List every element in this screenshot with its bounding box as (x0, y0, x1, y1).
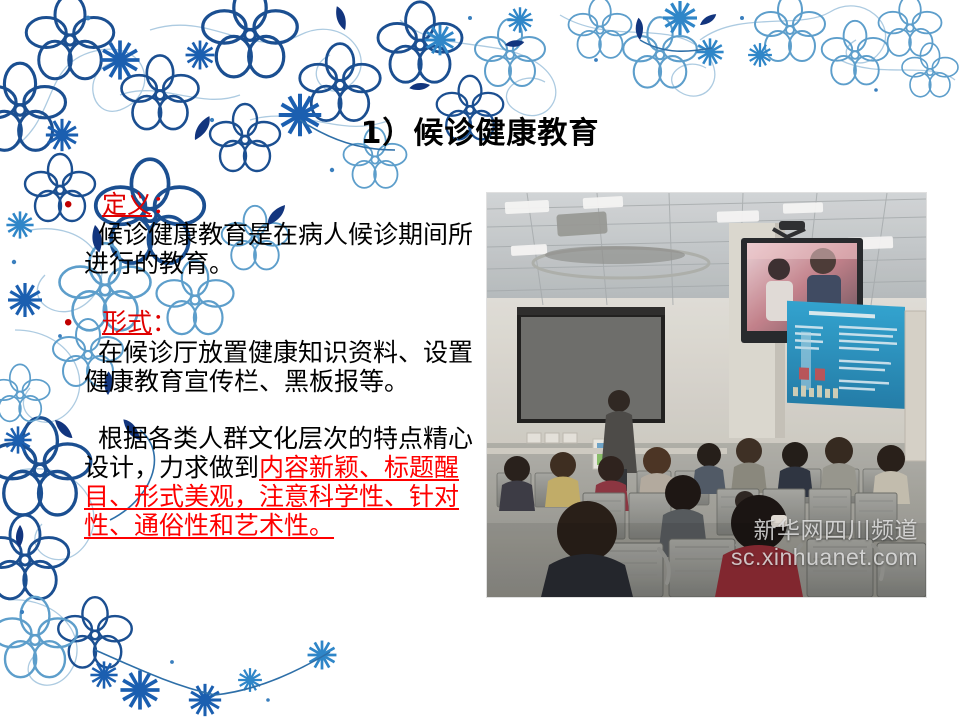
slide-canvas: 1）候诊健康教育 • 定义： 候诊健康教育是在病人候诊期间所进行的教育。 • 形… (0, 0, 960, 720)
slide-title: 1）候诊健康教育 (0, 116, 960, 152)
paragraph-closing: 根据各类人群文化层次的特点精心设计，力求做到内容新颖、标题醒目、形式美观，注意科… (62, 424, 474, 540)
bullet-heading-colon: ： (152, 190, 177, 219)
bullet-heading-colon: ： (152, 308, 177, 337)
slide-body: • 定义： 候诊健康教育是在病人候诊期间所进行的教育。 • 形式： 在候诊厅放置… (62, 190, 474, 540)
bullet-dot-icon: • (62, 190, 86, 220)
bullet-row-definition: • 定义： (62, 190, 474, 220)
bullet-heading-forms: 形式： (86, 308, 177, 338)
paragraph-definition: 候诊健康教育是在病人候诊期间所进行的教育。 (62, 220, 474, 278)
waiting-room-photo: 新华网四川频道 sc.xinhuanet.com (487, 193, 926, 597)
bullet-heading-text: 定义 (102, 190, 152, 219)
spacer-1 (62, 278, 474, 308)
photo-watermark-url: sc.xinhuanet.com (731, 544, 918, 571)
photo-watermark-cn: 新华网四川频道 (754, 511, 919, 545)
paragraph-forms: 在候诊厅放置健康知识资料、设置健康教育宣传栏、黑板报等。 (62, 338, 474, 396)
bullet-heading-definition: 定义： (86, 190, 177, 220)
bullet-block-definition: • 定义： 候诊健康教育是在病人候诊期间所进行的教育。 (62, 190, 474, 278)
bullet-heading-text: 形式 (102, 308, 152, 337)
bullet-dot-icon: • (62, 308, 86, 338)
spacer-2 (62, 396, 474, 424)
bullet-block-forms: • 形式： 在候诊厅放置健康知识资料、设置健康教育宣传栏、黑板报等。 (62, 308, 474, 396)
bullet-row-forms: • 形式： (62, 308, 474, 338)
